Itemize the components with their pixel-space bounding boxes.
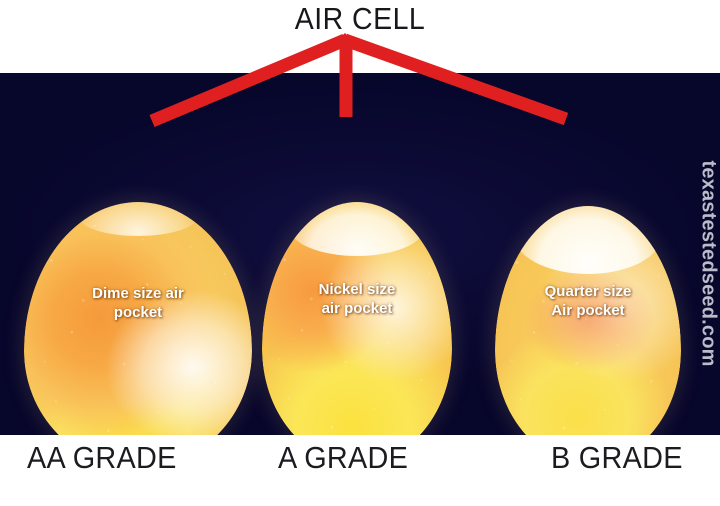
candling-photo-panel: Dime size air pocket Nickel size air poc… <box>0 73 720 435</box>
egg-grading-diagram: AIR CELL Dime size air pocket Nickel siz… <box>0 0 720 506</box>
egg-a-grade: Nickel size air pocket <box>262 202 452 435</box>
page-title: AIR CELL <box>29 1 691 37</box>
caption-grade-aa: AA GRADE <box>27 440 177 476</box>
egg-speckle-texture-a <box>262 202 452 435</box>
egg-speckle-texture-aa <box>24 202 252 435</box>
egg-aa-grade: Dime size air pocket <box>24 202 252 435</box>
caption-grade-a: A GRADE <box>278 440 408 476</box>
caption-grade-b: B GRADE <box>551 440 683 476</box>
egg-b-grade: Quarter size Air pocket <box>495 206 681 435</box>
watermark-text: texastestedseed.com <box>697 161 720 401</box>
egg-speckle-texture-b <box>495 206 681 435</box>
